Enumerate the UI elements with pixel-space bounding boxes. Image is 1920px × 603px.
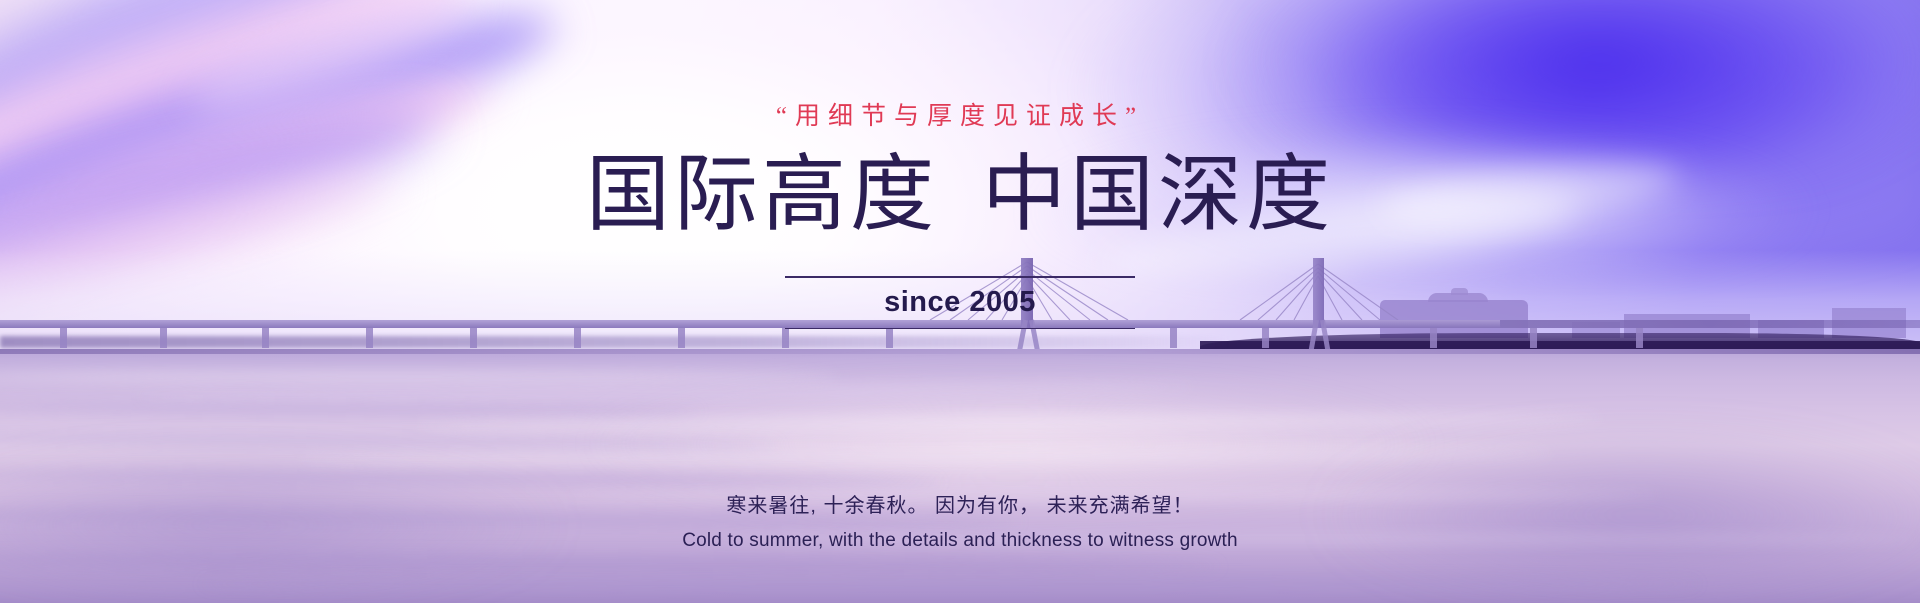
divider-bottom <box>785 328 1135 330</box>
since-block: since 2005 <box>785 276 1135 329</box>
banner-footer: 寒来暑往, 十余春秋。 因为有你， 未来充满希望！ Cold to summer… <box>0 489 1920 552</box>
hero-banner: “用细节与厚度见证成长” 国际高度中国深度 since 2005 寒来暑往, 十… <box>0 0 1920 603</box>
subtitle-english: Cold to summer, with the details and thi… <box>682 530 1238 552</box>
tagline: “用细节与厚度见证成长” <box>776 96 1144 132</box>
title-right: 中国深度 <box>982 149 1334 242</box>
subtitle-chinese: 寒来暑往, 十余春秋。 因为有你， 未来充满希望！ <box>726 489 1193 518</box>
since-label: since 2005 <box>884 278 1036 328</box>
title-left: 国际高度 <box>586 149 938 242</box>
page-title: 国际高度中国深度 <box>586 154 1334 238</box>
